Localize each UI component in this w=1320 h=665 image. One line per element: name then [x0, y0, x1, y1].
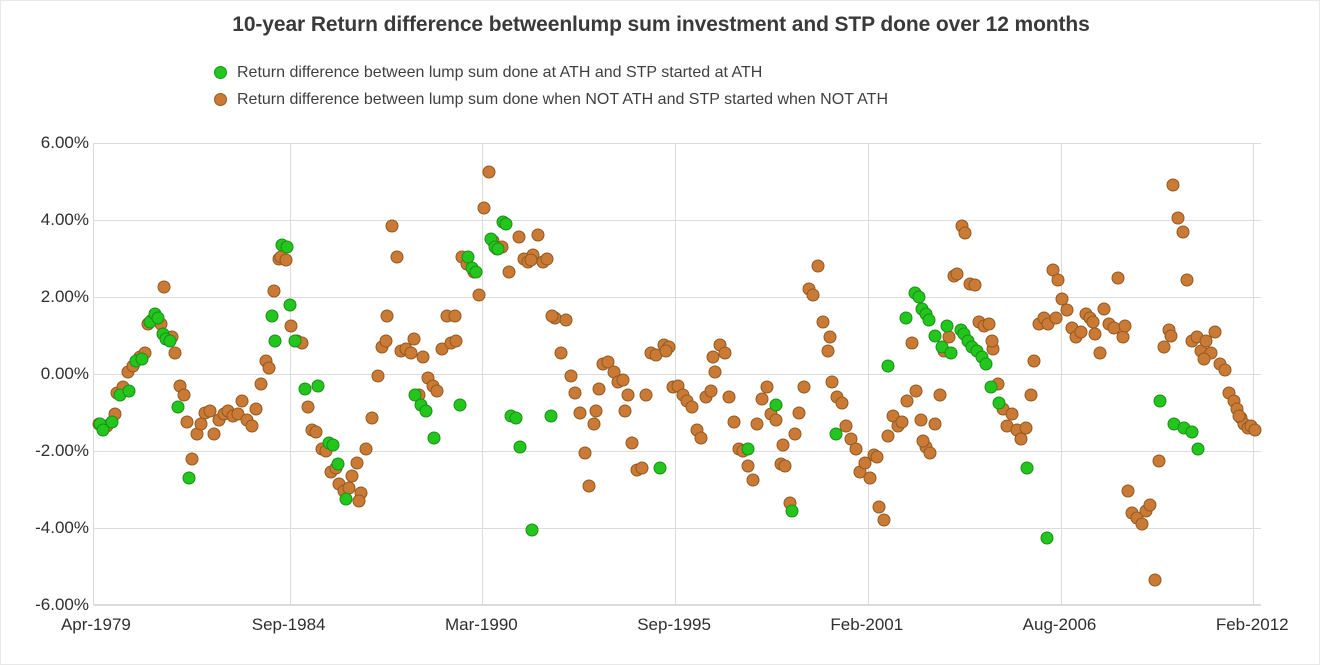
scatter-point — [1024, 389, 1037, 402]
scatter-point — [152, 312, 165, 325]
scatter-point — [526, 523, 539, 536]
scatter-point — [105, 416, 118, 429]
scatter-point — [360, 443, 373, 456]
scatter-point — [807, 289, 820, 302]
scatter-point — [168, 346, 181, 359]
scatter-point — [1153, 454, 1166, 467]
scatter-point — [390, 250, 403, 263]
scatter-point — [309, 425, 322, 438]
scatter-point — [993, 396, 1006, 409]
scatter-point — [587, 418, 600, 431]
scatter-point — [1050, 312, 1063, 325]
scatter-point — [492, 242, 505, 255]
scatter-point — [905, 337, 918, 350]
scatter-point — [877, 514, 890, 527]
scatter-point — [450, 335, 463, 348]
scatter-point — [896, 416, 909, 429]
scatter-point — [340, 493, 353, 506]
scatter-point — [332, 458, 345, 471]
scatter-point — [269, 335, 282, 348]
scatter-point — [380, 335, 393, 348]
scatter-point — [267, 285, 280, 298]
scatter-point — [541, 252, 554, 265]
scatter-point — [959, 227, 972, 240]
scatter-point — [163, 335, 176, 348]
scatter-point — [299, 383, 312, 396]
scatter-point — [816, 316, 829, 329]
scatter-point — [707, 350, 720, 363]
scatter-point — [826, 375, 839, 388]
scatter-point — [245, 419, 258, 432]
scatter-point — [135, 352, 148, 365]
scatter-point — [263, 362, 276, 375]
scatter-point — [1119, 319, 1132, 332]
scatter-point — [404, 346, 417, 359]
scatter-point — [940, 319, 953, 332]
scatter-point — [365, 412, 378, 425]
scatter-point — [514, 441, 527, 454]
scatter-point — [255, 377, 268, 390]
scatter-point — [870, 450, 883, 463]
scatter-point — [1197, 352, 1210, 365]
scatter-point — [626, 437, 639, 450]
scatter-point — [760, 381, 773, 394]
scatter-point — [1171, 212, 1184, 225]
scatter-point — [578, 446, 591, 459]
scatter-point — [823, 331, 836, 344]
scatter-point — [986, 335, 999, 348]
scatter-point — [793, 406, 806, 419]
plot-wrapper: 6.00%4.00%2.00%0.00%-2.00%-4.00%-6.00% A… — [93, 143, 1261, 605]
scatter-point — [933, 389, 946, 402]
scatter-point — [350, 456, 363, 469]
scatter-point — [1191, 443, 1204, 456]
legend-marker-orange-icon — [214, 93, 227, 106]
legend-item-ath[interactable]: Return difference between lump sum done … — [214, 59, 888, 86]
scatter-point — [635, 462, 648, 475]
scatter-point — [923, 314, 936, 327]
scatter-point — [777, 439, 790, 452]
scatter-point — [482, 165, 495, 178]
gridline-horizontal — [94, 143, 1261, 144]
scatter-point — [559, 314, 572, 327]
scatter-point — [478, 202, 491, 215]
gridline-vertical — [1253, 143, 1254, 604]
x-axis-tick-label: Sep-1995 — [637, 615, 711, 635]
scatter-point — [564, 369, 577, 382]
scatter-point — [914, 414, 927, 427]
scatter-point — [1117, 331, 1130, 344]
gridline-vertical — [1061, 143, 1062, 604]
y-axis-tick-label: -4.00% — [3, 518, 89, 538]
x-axis-tick-label: Apr-1979 — [61, 615, 131, 635]
scatter-point — [723, 391, 736, 404]
scatter-point — [1051, 273, 1064, 286]
scatter-point — [829, 427, 842, 440]
scatter-point — [158, 281, 171, 294]
scatter-point — [427, 431, 440, 444]
plot-area — [93, 143, 1261, 605]
scatter-point — [742, 460, 755, 473]
scatter-point — [849, 443, 862, 456]
scatter-point — [195, 418, 208, 431]
scatter-point — [945, 346, 958, 359]
y-axis-tick-label: 0.00% — [3, 364, 89, 384]
scatter-point — [686, 400, 699, 413]
scatter-point — [1098, 302, 1111, 315]
scatter-point — [928, 418, 941, 431]
scatter-point — [619, 404, 632, 417]
scatter-point — [695, 431, 708, 444]
scatter-point — [513, 231, 526, 244]
legend-label-ath: Return difference between lump sum done … — [237, 64, 762, 82]
gridline-horizontal — [94, 605, 1261, 606]
scatter-point — [709, 366, 722, 379]
scatter-point — [1167, 179, 1180, 192]
scatter-point — [1176, 225, 1189, 238]
x-axis-tick-label: Feb-2012 — [1216, 615, 1289, 635]
scatter-point — [419, 404, 432, 417]
scatter-point — [1181, 273, 1194, 286]
scatter-point — [417, 350, 430, 363]
scatter-point — [910, 385, 923, 398]
scatter-point — [742, 443, 755, 456]
scatter-point — [371, 369, 384, 382]
legend-marker-green-icon — [214, 66, 227, 79]
scatter-point — [1020, 421, 1033, 434]
y-axis-tick-label: -2.00% — [3, 441, 89, 461]
scatter-point — [746, 473, 759, 486]
scatter-point — [469, 265, 482, 278]
legend-label-not-ath: Return difference between lump sum done … — [237, 91, 888, 109]
gridline-horizontal — [94, 528, 1261, 529]
scatter-point — [982, 317, 995, 330]
scatter-point — [951, 267, 964, 280]
scatter-point — [863, 471, 876, 484]
scatter-point — [285, 319, 298, 332]
scatter-point — [327, 439, 340, 452]
scatter-point — [1088, 327, 1101, 340]
scatter-point — [835, 396, 848, 409]
scatter-point — [524, 254, 537, 267]
scatter-point — [509, 412, 522, 425]
scatter-point — [502, 265, 515, 278]
x-axis-tick-label: Feb-2001 — [830, 615, 903, 635]
legend-item-not-ath[interactable]: Return difference between lump sum done … — [214, 86, 888, 113]
scatter-point — [181, 416, 194, 429]
y-axis-tick-label: 6.00% — [3, 133, 89, 153]
scatter-point — [788, 427, 801, 440]
scatter-point — [756, 393, 769, 406]
scatter-point — [779, 460, 792, 473]
scatter-point — [208, 427, 221, 440]
scatter-point — [1143, 498, 1156, 511]
scatter-point — [1248, 423, 1261, 436]
scatter-point — [346, 470, 359, 483]
scatter-point — [448, 310, 461, 323]
scatter-point — [1218, 364, 1231, 377]
scatter-point — [408, 333, 421, 346]
scatter-point — [1148, 573, 1161, 586]
scatter-point — [1112, 271, 1125, 284]
scatter-point — [1015, 433, 1028, 446]
scatter-point — [381, 310, 394, 323]
gridline-vertical — [290, 143, 291, 604]
scatter-point — [704, 385, 717, 398]
scatter-point — [872, 500, 885, 513]
scatter-point — [385, 219, 398, 232]
scatter-point — [123, 385, 136, 398]
scatter-point — [573, 406, 586, 419]
scatter-point — [583, 479, 596, 492]
scatter-point — [617, 373, 630, 386]
scatter-point — [186, 452, 199, 465]
scatter-point — [786, 504, 799, 517]
scatter-point — [1028, 354, 1041, 367]
scatter-point — [280, 240, 293, 253]
scatter-point — [728, 416, 741, 429]
scatter-point — [265, 310, 278, 323]
scatter-point — [500, 217, 513, 230]
scatter-point — [569, 387, 582, 400]
scatter-point — [770, 414, 783, 427]
scatter-point — [718, 346, 731, 359]
scatter-point — [1093, 346, 1106, 359]
scatter-point — [1041, 531, 1054, 544]
scatter-point — [288, 335, 301, 348]
scatter-point — [279, 254, 292, 267]
scatter-point — [453, 398, 466, 411]
gridline-vertical — [675, 143, 676, 604]
scatter-point — [172, 400, 185, 413]
chart-title: 10-year Return difference betweenlump su… — [1, 13, 1320, 37]
gridline-horizontal — [94, 220, 1261, 221]
scatter-point — [1135, 518, 1148, 531]
scatter-point — [1121, 485, 1134, 498]
scatter-point — [592, 383, 605, 396]
scatter-point — [250, 402, 263, 415]
scatter-point — [555, 346, 568, 359]
y-axis-tick-label: 2.00% — [3, 287, 89, 307]
scatter-point — [1021, 462, 1034, 475]
scatter-point — [1154, 394, 1167, 407]
scatter-point — [654, 462, 667, 475]
scatter-point — [545, 310, 558, 323]
scatter-point — [473, 289, 486, 302]
scatter-point — [798, 381, 811, 394]
scatter-point — [660, 344, 673, 357]
scatter-point — [968, 279, 981, 292]
x-axis-tick-label: Mar-1990 — [445, 615, 518, 635]
scatter-point — [899, 312, 912, 325]
scatter-point — [1209, 325, 1222, 338]
chart-container: 10-year Return difference betweenlump su… — [0, 0, 1320, 665]
scatter-point — [353, 495, 366, 508]
chart-legend: Return difference between lump sum done … — [214, 59, 888, 113]
scatter-point — [1185, 425, 1198, 438]
scatter-point — [284, 298, 297, 311]
scatter-point — [985, 381, 998, 394]
y-axis-tick-label: 4.00% — [3, 210, 89, 230]
scatter-point — [1006, 408, 1019, 421]
gridline-vertical — [868, 143, 869, 604]
gridline-horizontal — [94, 297, 1261, 298]
scatter-point — [236, 394, 249, 407]
gridline-horizontal — [94, 451, 1261, 452]
scatter-point — [821, 344, 834, 357]
scatter-point — [640, 389, 653, 402]
scatter-point — [924, 446, 937, 459]
scatter-point — [301, 400, 314, 413]
x-axis-tick-label: Sep-1984 — [252, 615, 326, 635]
scatter-point — [1157, 341, 1170, 354]
scatter-point — [1232, 410, 1245, 423]
y-axis-tick-label: -6.00% — [3, 595, 89, 615]
scatter-point — [917, 435, 930, 448]
scatter-point — [621, 389, 634, 402]
scatter-point — [590, 404, 603, 417]
scatter-point — [544, 410, 557, 423]
scatter-point — [882, 360, 895, 373]
scatter-point — [751, 418, 764, 431]
scatter-point — [312, 379, 325, 392]
x-axis-tick-label: Aug-2006 — [1023, 615, 1097, 635]
scatter-point — [812, 260, 825, 273]
scatter-point — [770, 398, 783, 411]
scatter-point — [431, 385, 444, 398]
scatter-point — [1074, 325, 1087, 338]
scatter-point — [1164, 329, 1177, 342]
scatter-point — [1086, 316, 1099, 329]
scatter-point — [980, 358, 993, 371]
scatter-point — [531, 229, 544, 242]
scatter-point — [182, 471, 195, 484]
